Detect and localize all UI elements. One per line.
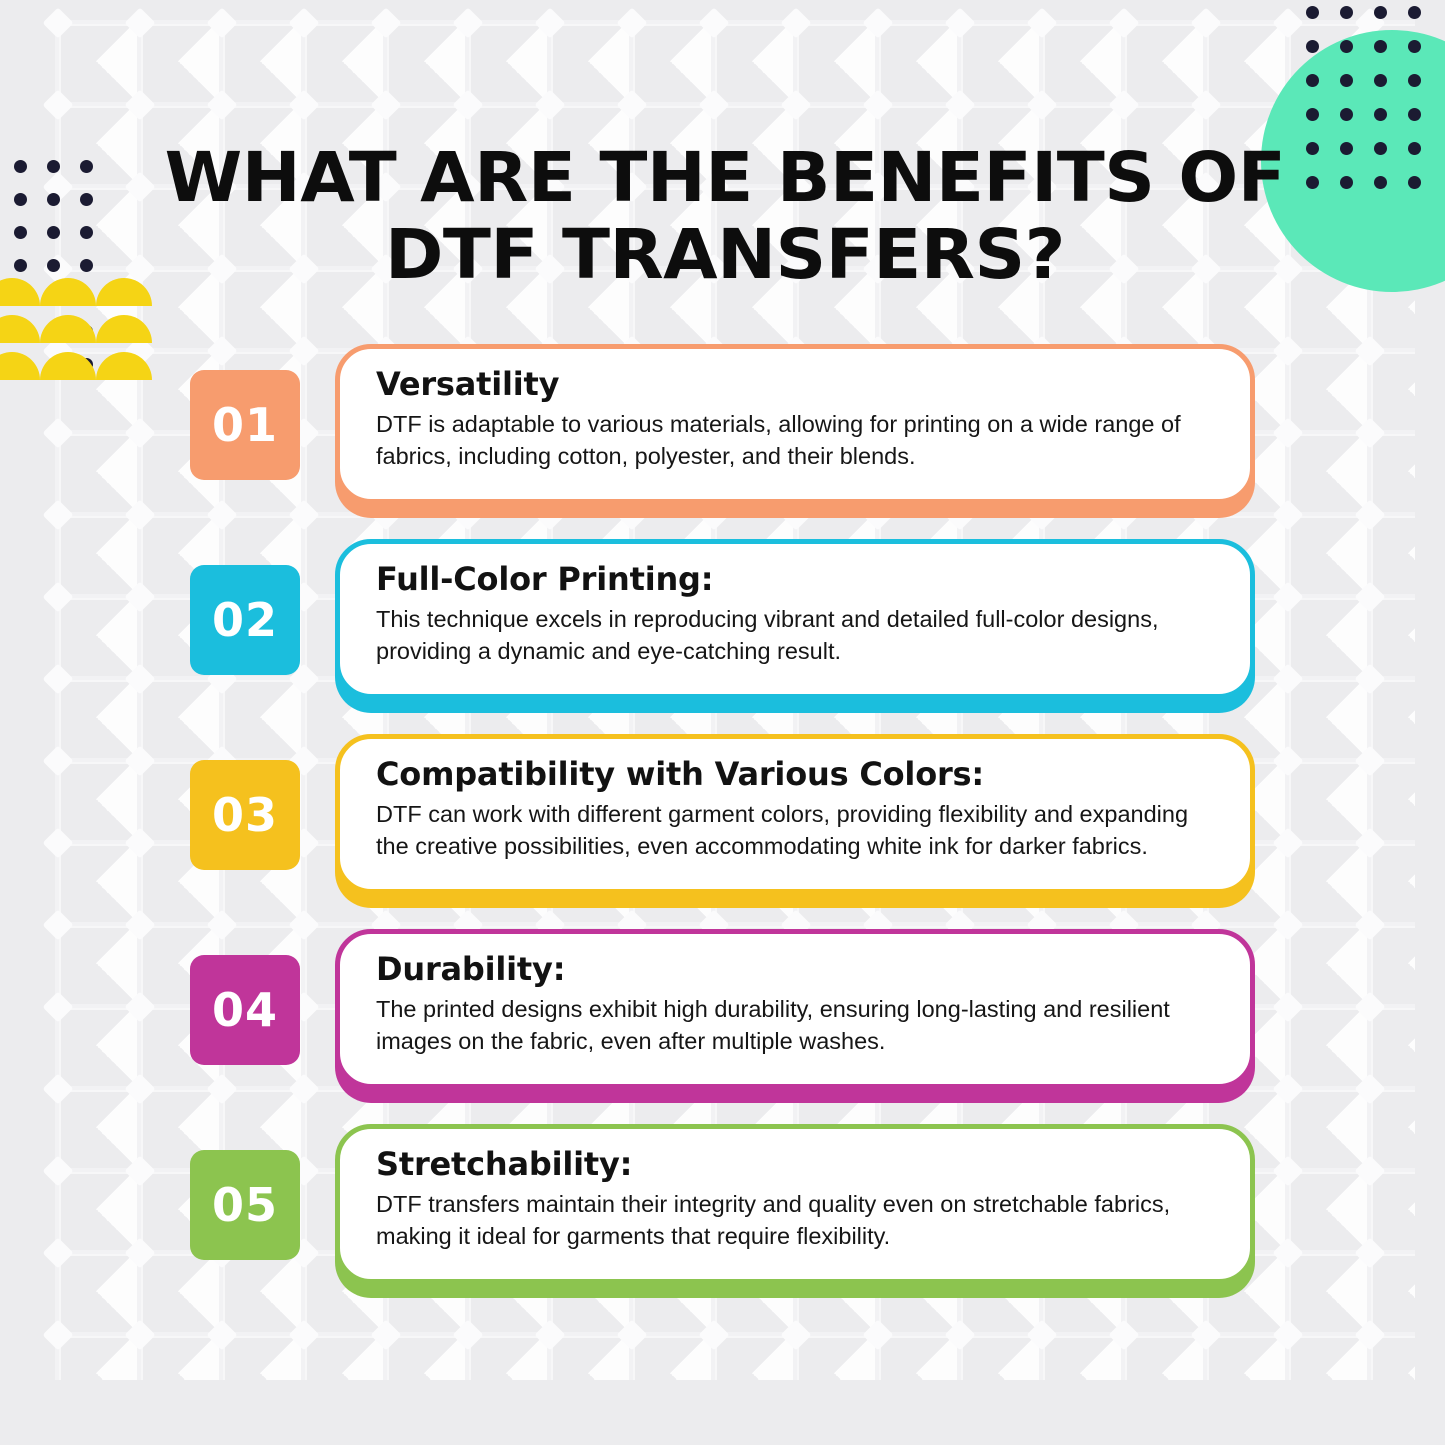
decorative-dot xyxy=(1408,142,1421,155)
page-title: WHAT ARE THE BENEFITS OF DTF TRANSFERS? xyxy=(149,140,1302,295)
decorative-dot xyxy=(1408,40,1421,53)
decorative-dot xyxy=(80,226,93,239)
grid-node-diamond xyxy=(698,89,729,120)
grid-node-diamond xyxy=(534,89,565,120)
decorative-dot xyxy=(1374,40,1387,53)
decorative-dot xyxy=(14,259,27,272)
grid-node-diamond xyxy=(206,89,237,120)
benefit-heading: Compatibility with Various Colors: xyxy=(376,755,1220,793)
yellow-half-circle xyxy=(96,278,152,306)
grid-node-diamond xyxy=(698,1319,729,1350)
decorative-dot xyxy=(1340,74,1353,87)
decorative-dot xyxy=(1306,142,1319,155)
decorative-dot xyxy=(1340,40,1353,53)
benefit-row: 04Durability:The printed designs exhibit… xyxy=(0,925,1445,1120)
grid-node-diamond xyxy=(1108,1319,1139,1350)
grid-node-diamond xyxy=(944,89,975,120)
yellow-half-circle xyxy=(0,278,40,306)
grid-node-diamond xyxy=(206,1319,237,1350)
grid-node-diamond xyxy=(206,7,237,38)
decorative-dot xyxy=(80,259,93,272)
benefit-card-wrapper: Compatibility with Various Colors:DTF ca… xyxy=(335,734,1255,894)
decorative-dot xyxy=(1340,176,1353,189)
benefit-card: Full-Color Printing:This technique excel… xyxy=(335,539,1255,699)
grid-node-diamond xyxy=(1190,7,1221,38)
grid-node-diamond xyxy=(862,7,893,38)
grid-node-diamond xyxy=(1026,89,1057,120)
benefit-heading: Versatility xyxy=(376,365,1220,403)
benefit-number-badge: 04 xyxy=(190,955,300,1065)
decorative-dot xyxy=(1374,142,1387,155)
grid-node-diamond xyxy=(1026,7,1057,38)
grid-node-diamond xyxy=(124,1319,155,1350)
grid-node-diamond xyxy=(616,89,647,120)
benefit-card: Durability:The printed designs exhibit h… xyxy=(335,929,1255,1089)
benefit-card: Compatibility with Various Colors:DTF ca… xyxy=(335,734,1255,894)
grid-node-diamond xyxy=(124,89,155,120)
grid-node-diamond xyxy=(452,7,483,38)
grid-node-diamond xyxy=(780,7,811,38)
grid-node-diamond xyxy=(1190,1319,1221,1350)
decorative-dot xyxy=(80,160,93,173)
yellow-half-circle xyxy=(0,315,40,343)
benefit-body-text: DTF is adaptable to various materials, a… xyxy=(376,409,1220,473)
yellow-half-circle xyxy=(40,278,96,306)
grid-node-diamond xyxy=(1026,1319,1057,1350)
decorative-dot xyxy=(1306,6,1319,19)
grid-node-diamond xyxy=(534,7,565,38)
decorative-dot xyxy=(80,193,93,206)
benefit-body-text: This technique excels in reproducing vib… xyxy=(376,604,1220,668)
decorative-dot xyxy=(47,259,60,272)
grid-node-diamond xyxy=(944,1319,975,1350)
decorative-dot xyxy=(47,160,60,173)
benefit-card-wrapper: Durability:The printed designs exhibit h… xyxy=(335,929,1255,1089)
benefit-row: 01VersatilityDTF is adaptable to various… xyxy=(0,340,1445,535)
benefits-list: 01VersatilityDTF is adaptable to various… xyxy=(0,340,1445,1315)
decorative-dot xyxy=(14,193,27,206)
yellow-half-circle xyxy=(96,315,152,343)
grid-node-diamond xyxy=(616,1319,647,1350)
grid-node-diamond xyxy=(452,89,483,120)
decorative-dot xyxy=(1408,6,1421,19)
dot-grid-top-right xyxy=(1306,6,1441,196)
benefit-heading: Full-Color Printing: xyxy=(376,560,1220,598)
decorative-dot xyxy=(1306,74,1319,87)
decorative-dot xyxy=(1306,176,1319,189)
benefit-number-badge: 03 xyxy=(190,760,300,870)
grid-node-diamond xyxy=(862,1319,893,1350)
benefit-card-wrapper: Stretchability:DTF transfers maintain th… xyxy=(335,1124,1255,1284)
grid-node-diamond xyxy=(370,7,401,38)
grid-node-diamond xyxy=(534,1319,565,1350)
benefit-card-wrapper: Full-Color Printing:This technique excel… xyxy=(335,539,1255,699)
grid-node-diamond xyxy=(288,89,319,120)
grid-node-diamond xyxy=(1272,1319,1303,1350)
grid-node-diamond xyxy=(1354,1319,1385,1350)
benefit-card-wrapper: VersatilityDTF is adaptable to various m… xyxy=(335,344,1255,504)
decorative-dot xyxy=(1306,40,1319,53)
benefit-body-text: DTF can work with different garment colo… xyxy=(376,799,1220,863)
decorative-dot xyxy=(1408,108,1421,121)
grid-node-diamond xyxy=(944,7,975,38)
yellow-half-circle xyxy=(40,315,96,343)
grid-node-diamond xyxy=(370,1319,401,1350)
decorative-dot xyxy=(1374,108,1387,121)
benefit-number-badge: 05 xyxy=(190,1150,300,1260)
grid-node-diamond xyxy=(1190,89,1221,120)
benefit-heading: Stretchability: xyxy=(376,1145,1220,1183)
decorative-dot xyxy=(1374,176,1387,189)
grid-node-diamond xyxy=(780,89,811,120)
decorative-dot xyxy=(47,193,60,206)
decorative-dot xyxy=(1374,74,1387,87)
decorative-dot xyxy=(1408,176,1421,189)
grid-node-diamond xyxy=(42,7,73,38)
benefit-row: 03Compatibility with Various Colors:DTF … xyxy=(0,730,1445,925)
benefit-heading: Durability: xyxy=(376,950,1220,988)
grid-node-diamond xyxy=(124,7,155,38)
grid-node-diamond xyxy=(370,89,401,120)
grid-node-diamond xyxy=(698,7,729,38)
grid-node-diamond xyxy=(288,7,319,38)
grid-node-diamond xyxy=(1108,7,1139,38)
decorative-dot xyxy=(1340,142,1353,155)
decorative-dot xyxy=(14,160,27,173)
benefit-number-badge: 02 xyxy=(190,565,300,675)
decorative-dot xyxy=(1340,6,1353,19)
benefit-card: Stretchability:DTF transfers maintain th… xyxy=(335,1124,1255,1284)
grid-node-diamond xyxy=(288,1319,319,1350)
decorative-dot xyxy=(1306,108,1319,121)
grid-node-diamond xyxy=(42,89,73,120)
decorative-dot xyxy=(1340,108,1353,121)
decorative-dot xyxy=(1374,6,1387,19)
grid-node-diamond xyxy=(42,1319,73,1350)
benefit-body-text: DTF transfers maintain their integrity a… xyxy=(376,1189,1220,1253)
benefit-row: 05Stretchability:DTF transfers maintain … xyxy=(0,1120,1445,1315)
benefit-number-badge: 01 xyxy=(190,370,300,480)
decorative-dot xyxy=(47,226,60,239)
grid-node-diamond xyxy=(452,1319,483,1350)
grid-node-diamond xyxy=(862,89,893,120)
grid-node-diamond xyxy=(1272,7,1303,38)
decorative-dot xyxy=(14,226,27,239)
benefit-row: 02Full-Color Printing:This technique exc… xyxy=(0,535,1445,730)
grid-node-diamond xyxy=(780,1319,811,1350)
grid-node-diamond xyxy=(1108,89,1139,120)
decorative-dot xyxy=(1408,74,1421,87)
benefit-body-text: The printed designs exhibit high durabil… xyxy=(376,994,1220,1058)
grid-node-diamond xyxy=(616,7,647,38)
benefit-card: VersatilityDTF is adaptable to various m… xyxy=(335,344,1255,504)
